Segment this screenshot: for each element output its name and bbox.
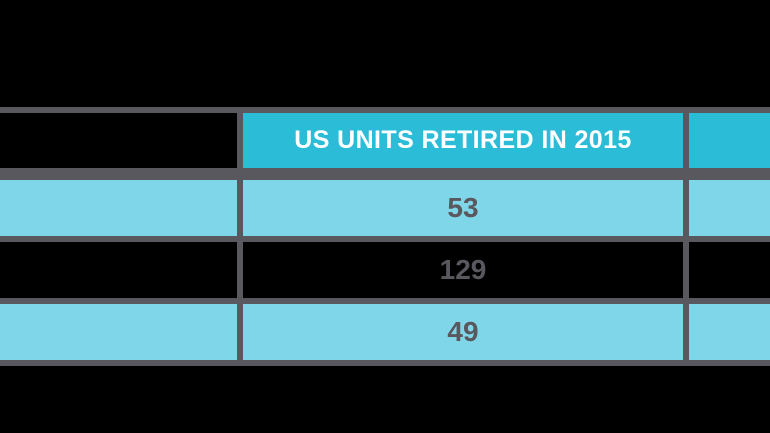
table-header: US UNITS RETIRED IN 2015 US U bbox=[0, 107, 770, 174]
cell-units-retired-2015: 53 bbox=[237, 174, 683, 242]
cell-second-metric bbox=[683, 304, 770, 366]
table-header-row: US UNITS RETIRED IN 2015 US U bbox=[0, 107, 770, 174]
cell-units-retired-2015: 49 bbox=[237, 304, 683, 366]
column-header-second-metric: US U bbox=[683, 107, 770, 174]
table-body: ) 53 MW) 129 NS 49 bbox=[0, 174, 770, 366]
column-header-label bbox=[0, 107, 237, 174]
row-label: ) bbox=[0, 174, 237, 242]
column-header-units-retired-2015: US UNITS RETIRED IN 2015 bbox=[237, 107, 683, 174]
data-table: US UNITS RETIRED IN 2015 US U ) 53 MW) 1… bbox=[0, 107, 770, 366]
row-label: MW) bbox=[0, 242, 237, 304]
cell-units-retired-2015: 129 bbox=[237, 242, 683, 304]
cell-second-metric bbox=[683, 174, 770, 242]
cell-second-metric bbox=[683, 242, 770, 304]
row-label: NS bbox=[0, 304, 237, 366]
table-viewport: US UNITS RETIRED IN 2015 US U ) 53 MW) 1… bbox=[0, 107, 770, 376]
table-row: MW) 129 bbox=[0, 242, 770, 304]
table-row: NS 49 bbox=[0, 304, 770, 366]
table-row: ) 53 bbox=[0, 174, 770, 242]
